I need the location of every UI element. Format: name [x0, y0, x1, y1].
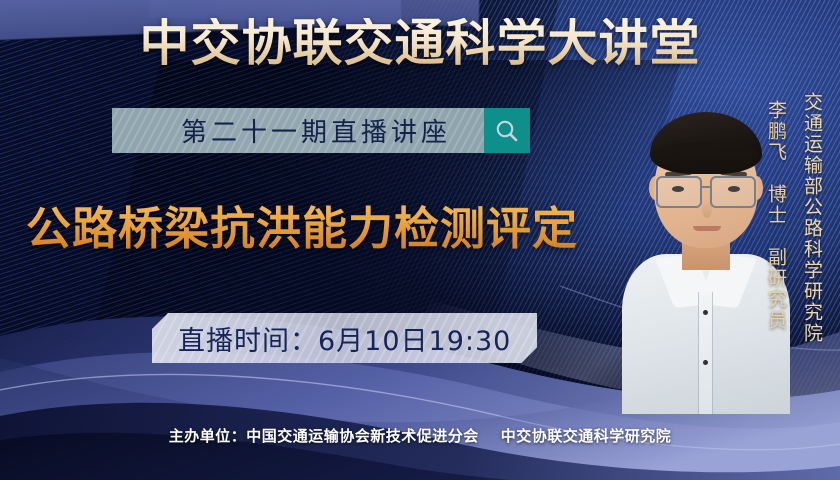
page-title: 中交协联交通科学大讲堂 — [0, 18, 840, 68]
footer-organizer-label: 主办单位：中国交通运输协会新技术促进分会 — [169, 427, 479, 445]
speaker-name-title: 李鹏飞 博士 副研究员 — [763, 100, 790, 331]
broadcast-time-badge: 直播时间：6月10日19:30 — [152, 313, 537, 363]
glasses-icon — [652, 176, 760, 206]
promo-poster: 中交协联交通科学大讲堂 第二十一期直播讲座 公路桥梁抗洪能力检测评定 直播时间：… — [0, 0, 840, 480]
search-icon-box[interactable] — [484, 108, 530, 153]
episode-label: 第二十一期直播讲座 — [145, 112, 451, 149]
episode-banner: 第二十一期直播讲座 — [112, 108, 530, 153]
portrait-mouth — [693, 226, 721, 231]
broadcast-time-text: 直播时间：6月10日19:30 — [178, 319, 511, 358]
glasses-bridge — [700, 186, 712, 188]
footer-organizers: 主办单位：中国交通运输协会新技术促进分会中交协联交通科学研究院 — [0, 425, 840, 446]
portrait-shirt-button — [703, 310, 708, 315]
episode-banner-body: 第二十一期直播讲座 — [112, 108, 484, 153]
glasses-lens-left — [656, 176, 702, 208]
footer-co-organizer: 中交协联交通科学研究院 — [501, 427, 672, 445]
glasses-lens-right — [710, 176, 756, 208]
lecture-headline: 公路桥梁抗洪能力检测评定 — [26, 204, 578, 254]
portrait-shirt-button — [703, 360, 708, 365]
search-icon — [494, 118, 520, 144]
speaker-organization: 交通运输部公路科学研究院 — [799, 92, 826, 344]
